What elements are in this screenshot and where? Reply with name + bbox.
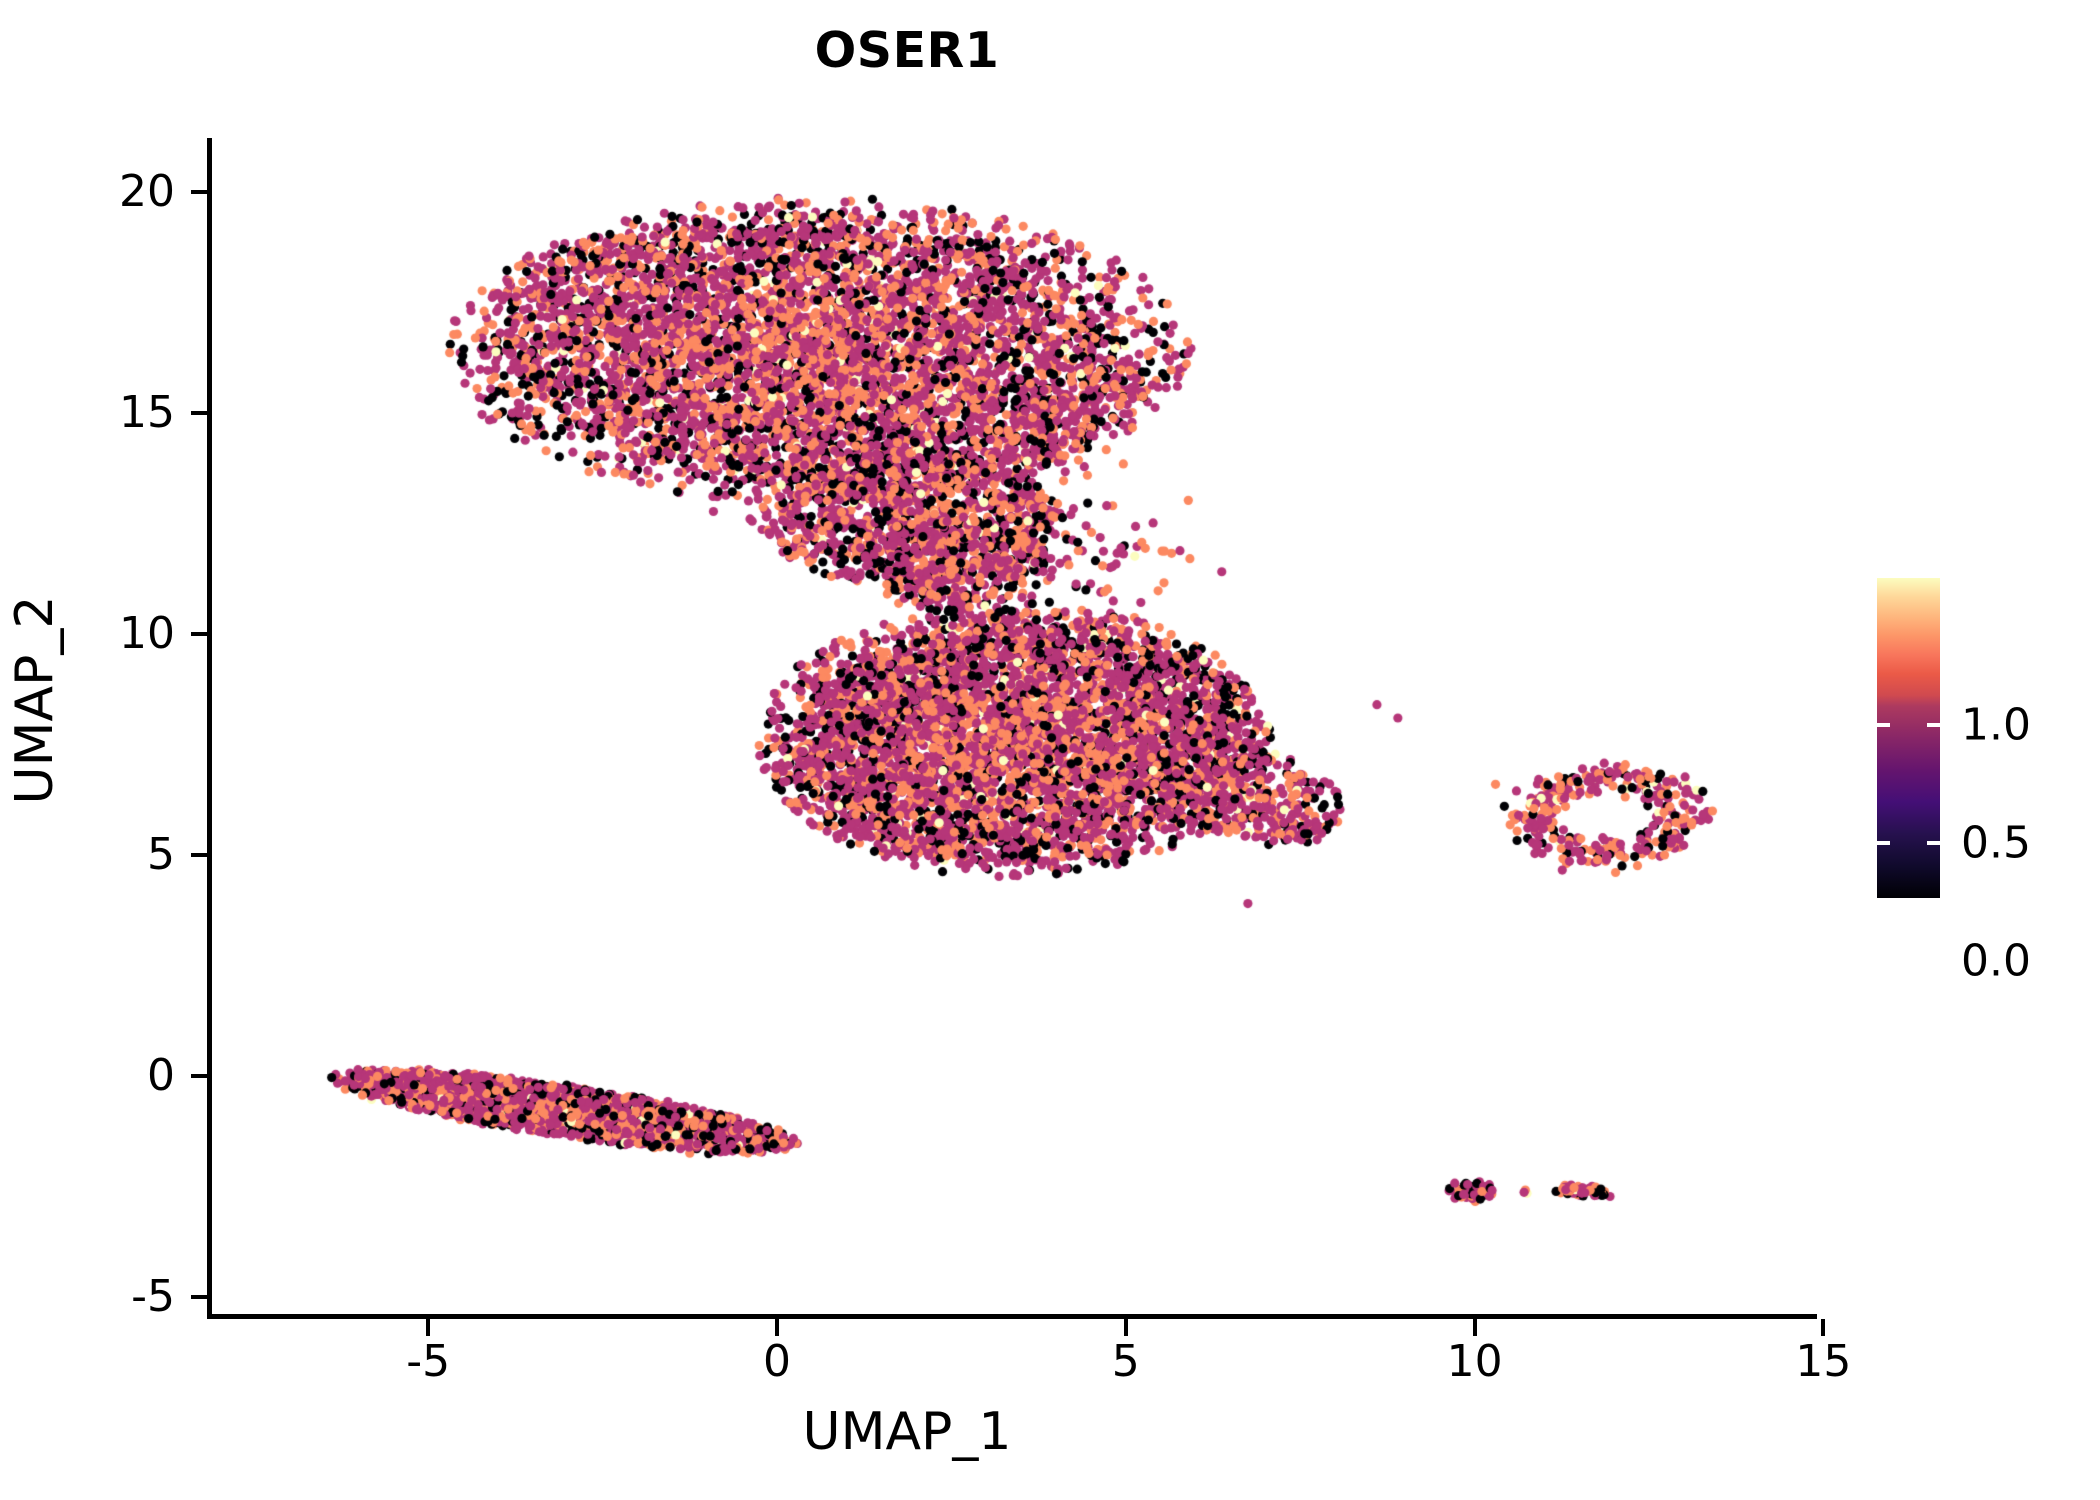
figure-canvas: OSER1 -5051015 -505101520 UMAP_1 UMAP_2 … — [0, 0, 2100, 1500]
chart-title: OSER1 — [0, 22, 1814, 79]
x-tick-label: 5 — [1112, 1340, 1140, 1384]
colorbar-tick-right-1.0 — [1927, 723, 1940, 727]
y-tick-label: 20 — [0, 170, 175, 214]
colorbar-label-0.5: 0.5 — [1961, 818, 2031, 869]
y-tick-mark — [191, 853, 208, 857]
colorbar-tick-left-0.5 — [1877, 841, 1890, 845]
y-tick-label: 0 — [0, 1054, 175, 1098]
x-tick-mark — [1821, 1319, 1825, 1336]
x-tick-label: -5 — [406, 1340, 450, 1384]
y-tick-mark — [191, 411, 208, 415]
x-axis-spine — [207, 1314, 1817, 1319]
x-tick-mark — [1124, 1319, 1128, 1336]
y-tick-label: -5 — [0, 1275, 175, 1319]
x-tick-label: 10 — [1447, 1340, 1503, 1384]
colorbar-tick-right-0.5 — [1927, 841, 1940, 845]
x-tick-label: 0 — [763, 1340, 791, 1384]
colorbar-label-0.0: 0.0 — [1961, 936, 2031, 987]
x-tick-mark — [775, 1319, 779, 1336]
y-tick-mark — [191, 1295, 208, 1299]
x-tick-label: 15 — [1795, 1340, 1851, 1384]
colorbar-label-1.0: 1.0 — [1961, 700, 2031, 751]
scatter-points-canvas — [210, 140, 1814, 1316]
scatter-plot-area — [210, 140, 1814, 1316]
colorbar-gradient — [1877, 578, 1940, 898]
colorbar-tick-left-1.0 — [1877, 723, 1890, 727]
y-tick-mark — [191, 1074, 208, 1078]
x-tick-mark — [1473, 1319, 1477, 1336]
y-axis-spine — [207, 138, 212, 1319]
x-axis-label: UMAP_1 — [0, 1402, 1814, 1462]
y-tick-mark — [191, 190, 208, 194]
y-tick-mark — [191, 632, 208, 636]
colorbar: 1.0 0.5 0.0 — [1877, 578, 1940, 898]
x-tick-mark — [426, 1319, 430, 1336]
y-axis-label: UMAP_2 — [5, 400, 65, 1000]
